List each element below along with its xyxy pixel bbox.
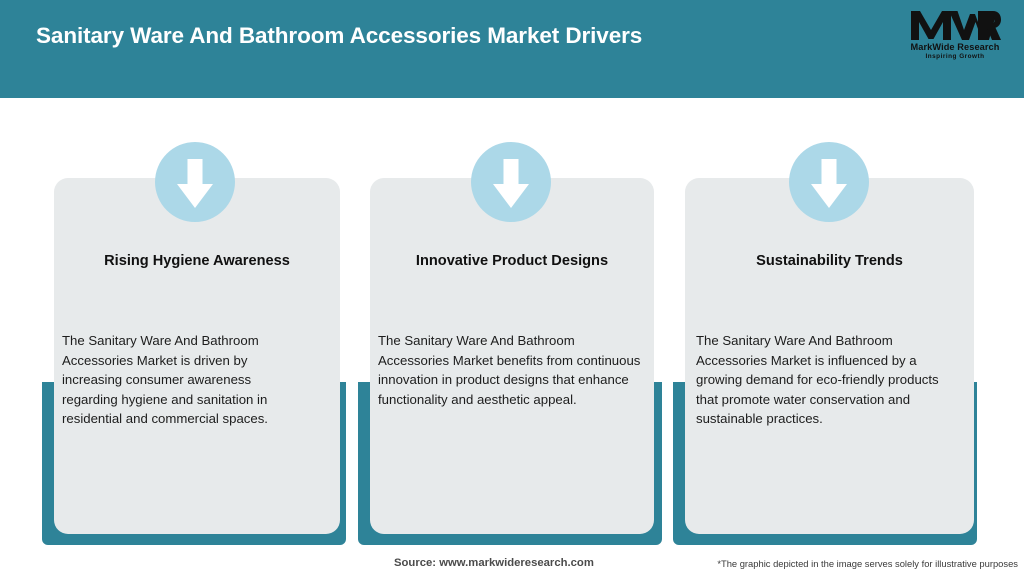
card-body: The Sanitary Ware And Bathroom Accessori… xyxy=(62,331,307,429)
source-note: Source: www.markwideresearch.com xyxy=(394,557,594,569)
down-arrow-icon xyxy=(155,142,235,222)
down-arrow-icon xyxy=(471,142,551,222)
card-body: The Sanitary Ware And Bathroom Accessori… xyxy=(378,331,644,409)
card-heading: Innovative Product Designs xyxy=(376,253,648,271)
card-heading: Rising Hygiene Awareness xyxy=(60,253,334,271)
card-body: The Sanitary Ware And Bathroom Accessori… xyxy=(696,331,958,429)
card-heading: Sustainability Trends xyxy=(691,253,968,271)
disclaimer-note: *The graphic depicted in the image serve… xyxy=(717,558,1018,569)
cards-region: Rising Hygiene Awareness The Sanitary Wa… xyxy=(0,0,1024,576)
down-arrow-icon xyxy=(789,142,869,222)
